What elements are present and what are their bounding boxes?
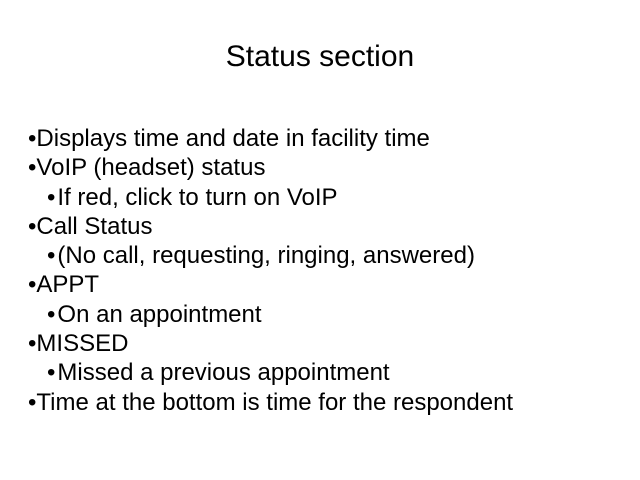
list-item-label: If red, click to turn on VoIP xyxy=(57,183,337,212)
bullet-icon: • xyxy=(28,329,36,358)
bullet-icon: • xyxy=(47,183,55,212)
list-item-label: APPT xyxy=(36,270,99,299)
list-item: •APPT xyxy=(28,270,628,299)
list-item-label: (No call, requesting, ringing, answered) xyxy=(57,241,475,270)
list-item-label: Call Status xyxy=(36,212,152,241)
list-item-label: VoIP (headset) status xyxy=(36,153,265,182)
list-item: •Missed a previous appointment xyxy=(28,358,628,387)
list-item-label: Displays time and date in facility time xyxy=(36,124,430,153)
list-item-label: On an appointment xyxy=(57,300,261,329)
bullet-icon: • xyxy=(47,358,55,387)
list-item: •VoIP (headset) status xyxy=(28,153,628,182)
bullet-icon: • xyxy=(47,241,55,270)
list-item: •On an appointment xyxy=(28,300,628,329)
list-item: •If red, click to turn on VoIP xyxy=(28,183,628,212)
bullet-icon: • xyxy=(28,388,36,417)
bullet-icon: • xyxy=(28,124,36,153)
list-item: •(No call, requesting, ringing, answered… xyxy=(28,241,628,270)
bullet-icon: • xyxy=(47,300,55,329)
list-item: •MISSED xyxy=(28,329,628,358)
list-item-label: MISSED xyxy=(36,329,128,358)
list-item: •Time at the bottom is time for the resp… xyxy=(28,388,628,417)
list-item: •Displays time and date in facility time xyxy=(28,124,628,153)
list-item: •Call Status xyxy=(28,212,628,241)
bullet-icon: • xyxy=(28,270,36,299)
list-item-label: Missed a previous appointment xyxy=(57,358,389,387)
page-title: Status section xyxy=(0,39,640,75)
bullet-icon: • xyxy=(28,212,36,241)
list-item-label: Time at the bottom is time for the respo… xyxy=(36,388,513,417)
bullet-list: •Displays time and date in facility time… xyxy=(28,124,628,417)
slide: Status section •Displays time and date i… xyxy=(0,0,640,480)
bullet-icon: • xyxy=(28,153,36,182)
